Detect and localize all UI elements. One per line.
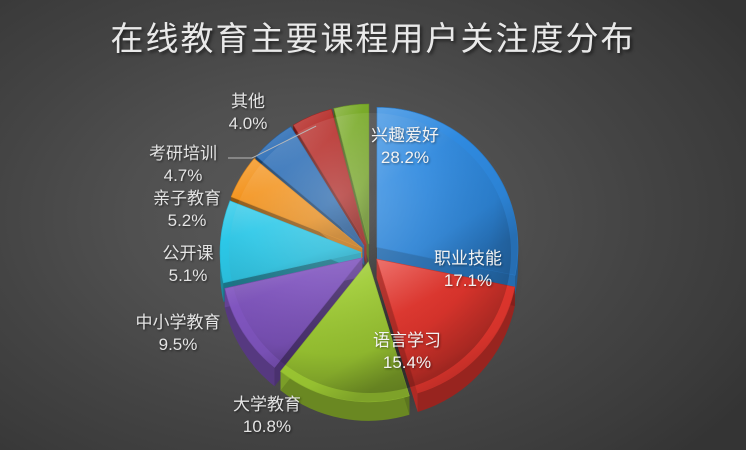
pie-slice-兴趣爱好[interactable] — [377, 107, 518, 275]
pie-chart — [0, 0, 746, 450]
chart-canvas: 在线教育主要课程用户关注度分布 其他 4.0% — [0, 0, 746, 450]
